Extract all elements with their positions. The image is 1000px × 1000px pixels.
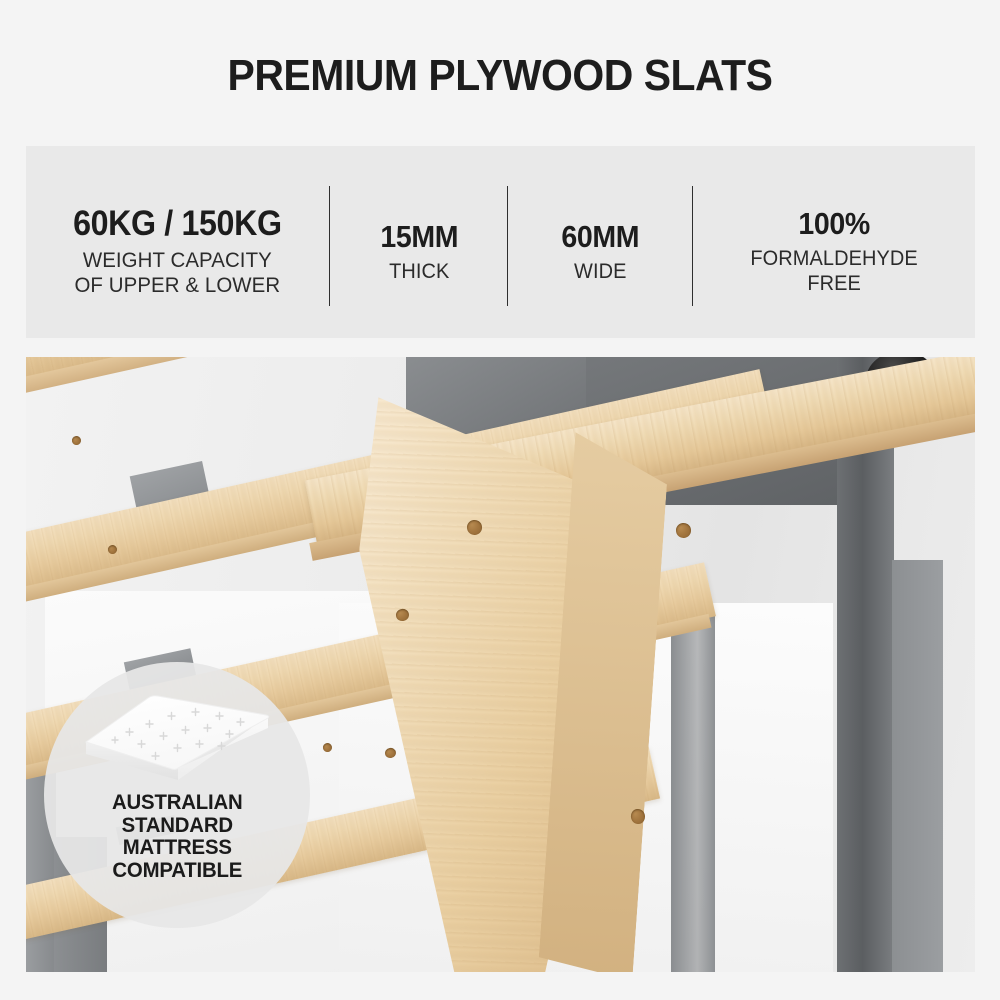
mattress-compatible-badge: AUSTRALIAN STANDARD MATTRESS COMPATIBLE xyxy=(44,662,310,928)
metal-frame-post-outer xyxy=(892,560,942,972)
spec-label: WIDE xyxy=(560,259,640,284)
mattress-icon xyxy=(82,688,272,784)
metal-frame-post-inner xyxy=(671,615,715,972)
spec-item-width: 60MM WIDE xyxy=(508,146,693,338)
spec-label: FORMALDEHYDE FREE xyxy=(750,246,917,296)
spec-item-weight-capacity: 60KG / 150KG WEIGHT CAPACITY OF UPPER & … xyxy=(26,146,330,338)
spec-label: THICK xyxy=(379,259,459,284)
spec-item-thickness: 15MM THICK xyxy=(330,146,508,338)
spec-label: WEIGHT CAPACITY OF UPPER & LOWER xyxy=(70,248,285,298)
spec-value: 100% xyxy=(753,208,915,239)
spec-item-formaldehyde-free: 100% FORMALDEHYDE FREE xyxy=(693,146,975,338)
badge-label: AUSTRALIAN STANDARD MATTRESS COMPATIBLE xyxy=(112,792,242,882)
spec-value: 60MM xyxy=(562,221,640,252)
product-infographic: PREMIUM PLYWOOD SLATS 60KG / 150KG WEIGH… xyxy=(0,0,1000,1000)
spec-value: 60KG / 150KG xyxy=(74,206,283,241)
page-title: PREMIUM PLYWOOD SLATS xyxy=(35,52,965,100)
spec-value: 15MM xyxy=(380,221,458,252)
spec-bar: 60KG / 150KG WEIGHT CAPACITY OF UPPER & … xyxy=(26,146,975,338)
